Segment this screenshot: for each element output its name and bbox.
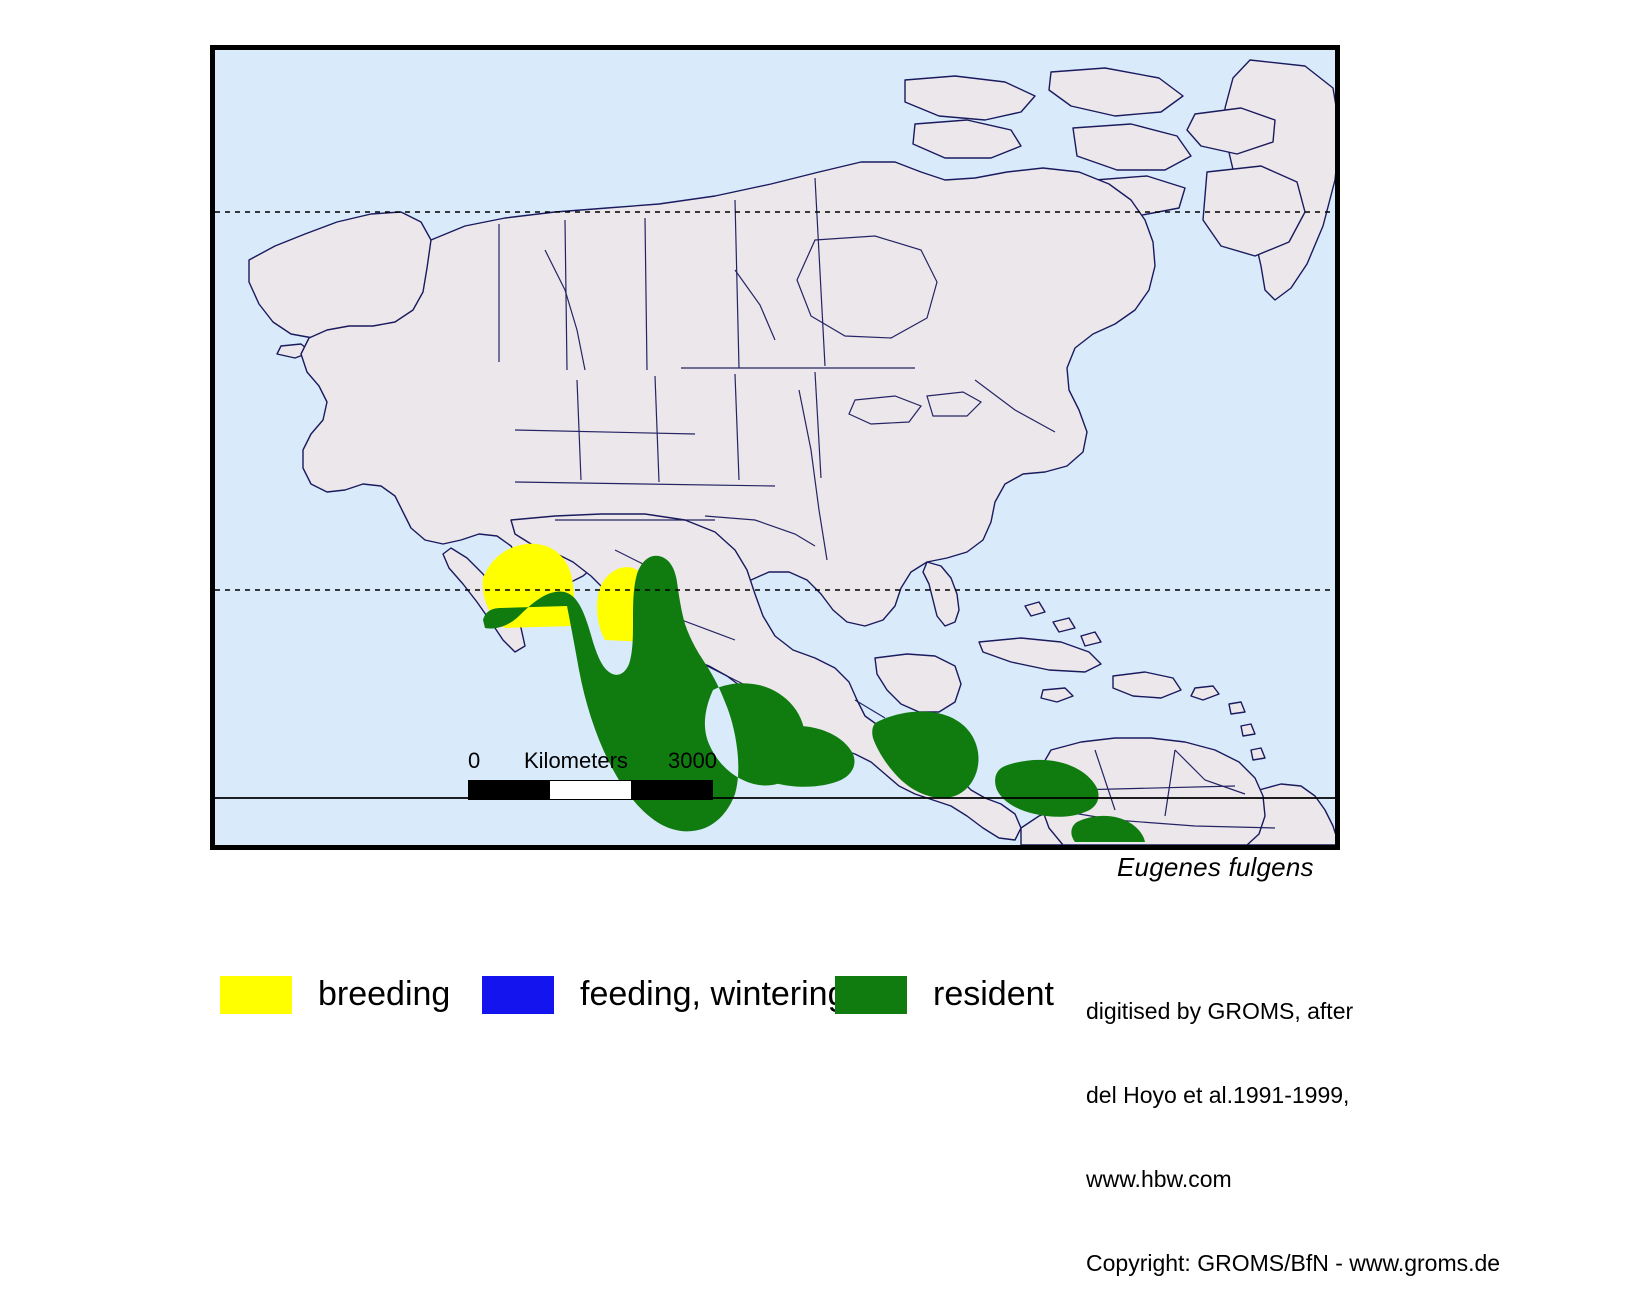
scalebar-segment-1 — [469, 781, 550, 799]
legend-item-feeding-wintering: feeding, wintering — [482, 975, 847, 1014]
map-canvas — [215, 50, 1335, 845]
scalebar-labels-group: 0 Kilometers 3000 — [468, 748, 728, 776]
legend-item-breeding: breeding — [220, 975, 450, 1014]
legend: breeding feeding, wintering resident — [205, 955, 1065, 1030]
map-frame: 0 Kilometers 3000 — [210, 45, 1340, 850]
credit-line-3: www.hbw.com — [1086, 1165, 1500, 1193]
credit-line-1: digitised by GROMS, after — [1086, 997, 1500, 1025]
legend-label-resident: resident — [933, 975, 1054, 1014]
credit-line-2: del Hoyo et al.1991-1999, — [1086, 1081, 1500, 1109]
scalebar-segment-2 — [550, 781, 631, 799]
credit-line-4: Copyright: GROMS/BfN - www.groms.de — [1086, 1249, 1500, 1277]
legend-label-breeding: breeding — [318, 975, 450, 1014]
scalebar-segment-3 — [631, 781, 712, 799]
legend-label-feeding-wintering: feeding, wintering — [580, 975, 847, 1014]
scalebar-zero-label: 0 — [468, 748, 480, 774]
scalebar-max-label: 3000 — [668, 748, 717, 774]
legend-swatch-breeding — [220, 976, 292, 1014]
scalebar-unit-label: Kilometers — [524, 748, 628, 774]
legend-swatch-feeding-wintering — [482, 976, 554, 1014]
credits-block: digitised by GROMS, after del Hoyo et al… — [1086, 941, 1500, 1305]
legend-item-resident: resident — [835, 975, 1054, 1014]
scalebar-bar — [468, 780, 713, 800]
species-name-caption: Eugenes fulgens — [1117, 852, 1314, 883]
legend-swatch-resident — [835, 976, 907, 1014]
scalebar-text: 0 Kilometers 3000 — [468, 748, 728, 776]
